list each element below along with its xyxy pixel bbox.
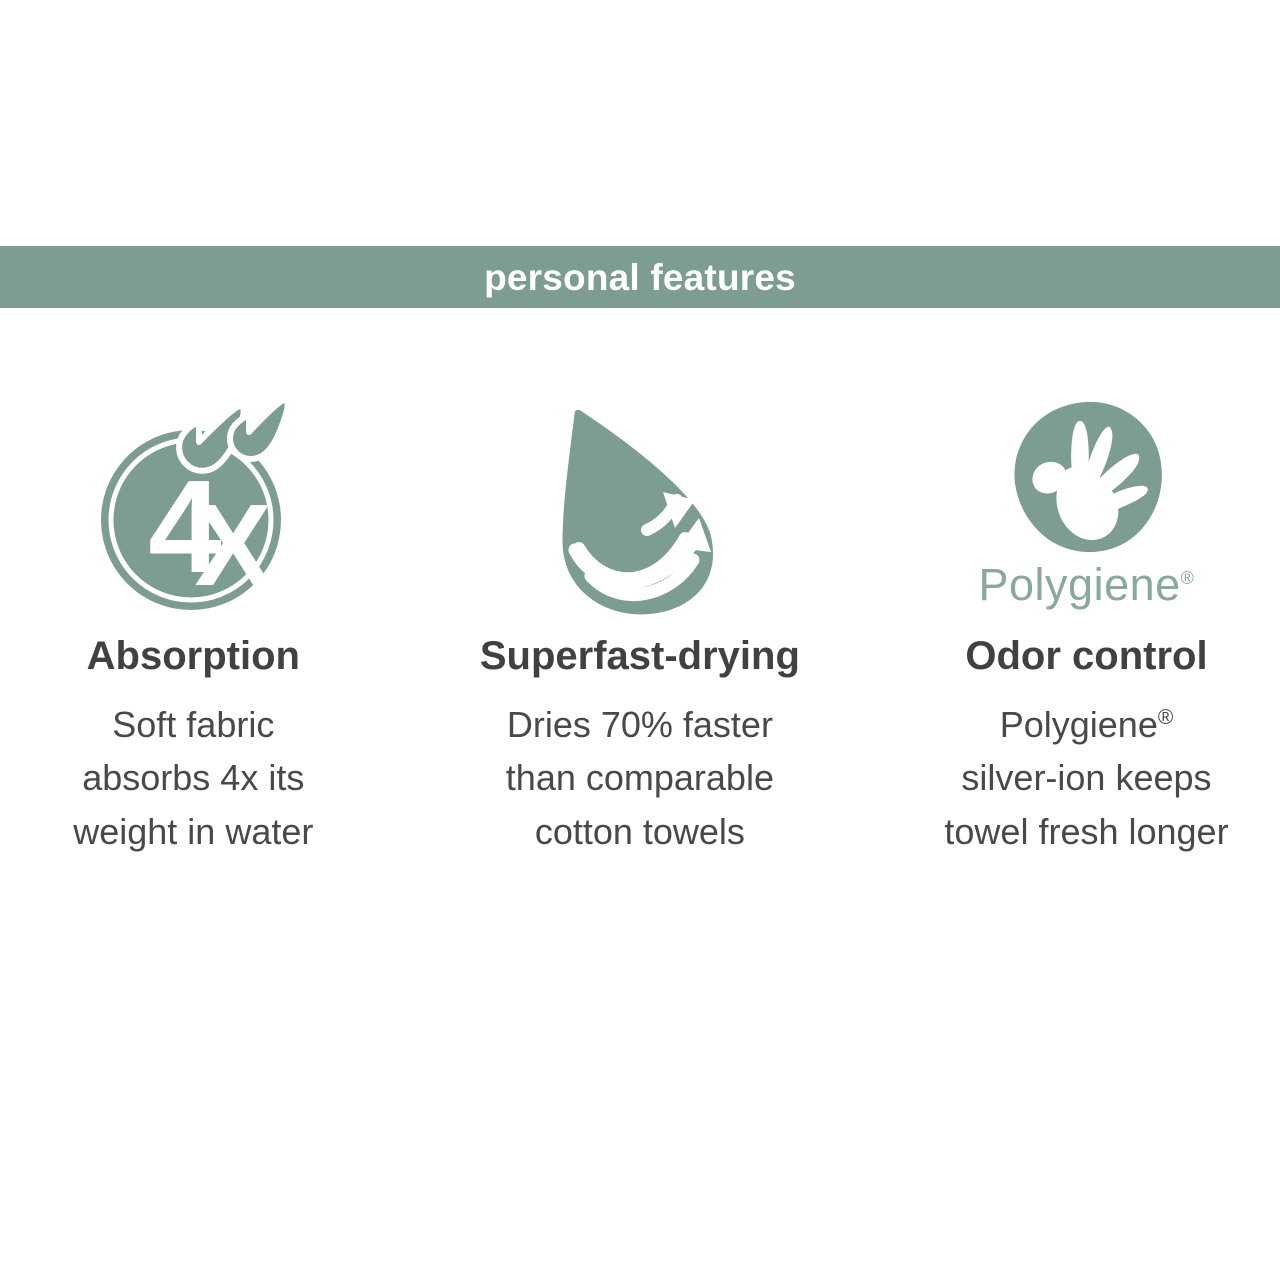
body-line-text: Polygiene: [1000, 704, 1158, 745]
feature-heading-odor-control: Odor control: [965, 636, 1207, 676]
feature-body-superfast-drying: Dries 70% faster than comparable cotton …: [506, 698, 774, 858]
body-line: Dries 70% faster: [506, 698, 774, 751]
page-title: personal features: [484, 259, 796, 296]
absorption-4x-droplet-icon: 4 X: [73, 400, 313, 615]
body-line: cotton towels: [506, 805, 774, 858]
feature-body-absorption: Soft fabric absorbs 4x its weight in wat…: [73, 698, 313, 858]
body-line: Polygiene®: [944, 698, 1228, 751]
drying-icon-slot: [417, 400, 864, 630]
body-line: weight in water: [73, 805, 313, 858]
feature-heading-superfast-drying: Superfast-drying: [480, 636, 800, 676]
polygiene-handprint-icon: [1006, 400, 1166, 556]
feature-body-odor-control: Polygiene® silver-ion keeps towel fresh …: [944, 698, 1228, 858]
odor-control-icon-slot: Polygiene®: [863, 400, 1280, 630]
feature-column-superfast-drying: Superfast-drying Dries 70% faster than c…: [417, 400, 864, 858]
body-line: absorbs 4x its: [73, 751, 313, 804]
polygiene-wordmark: Polygiene®: [979, 562, 1195, 607]
personal-features-infographic: personal features 4 X Absorption: [0, 0, 1280, 1280]
features-row: 4 X Absorption Soft fabric absorbs 4x it…: [0, 400, 1280, 858]
body-line: towel fresh longer: [944, 805, 1228, 858]
polygiene-logo: Polygiene®: [979, 400, 1195, 607]
registered-trademark-symbol: ®: [1158, 706, 1173, 729]
body-line: silver-ion keeps: [944, 751, 1228, 804]
feature-heading-absorption: Absorption: [87, 636, 300, 676]
absorption-icon-slot: 4 X: [0, 400, 417, 630]
body-line: than comparable: [506, 751, 774, 804]
registered-trademark-symbol: ®: [1181, 568, 1195, 588]
header-band: personal features: [0, 246, 1280, 308]
polygiene-wordmark-text: Polygiene: [979, 559, 1181, 610]
feature-column-absorption: 4 X Absorption Soft fabric absorbs 4x it…: [0, 400, 417, 858]
feature-column-odor-control: Polygiene® Odor control Polygiene® silve…: [863, 400, 1280, 858]
fast-drying-droplet-arrows-icon: [535, 400, 745, 625]
body-line: Soft fabric: [73, 698, 313, 751]
svg-text:X: X: [195, 480, 272, 610]
